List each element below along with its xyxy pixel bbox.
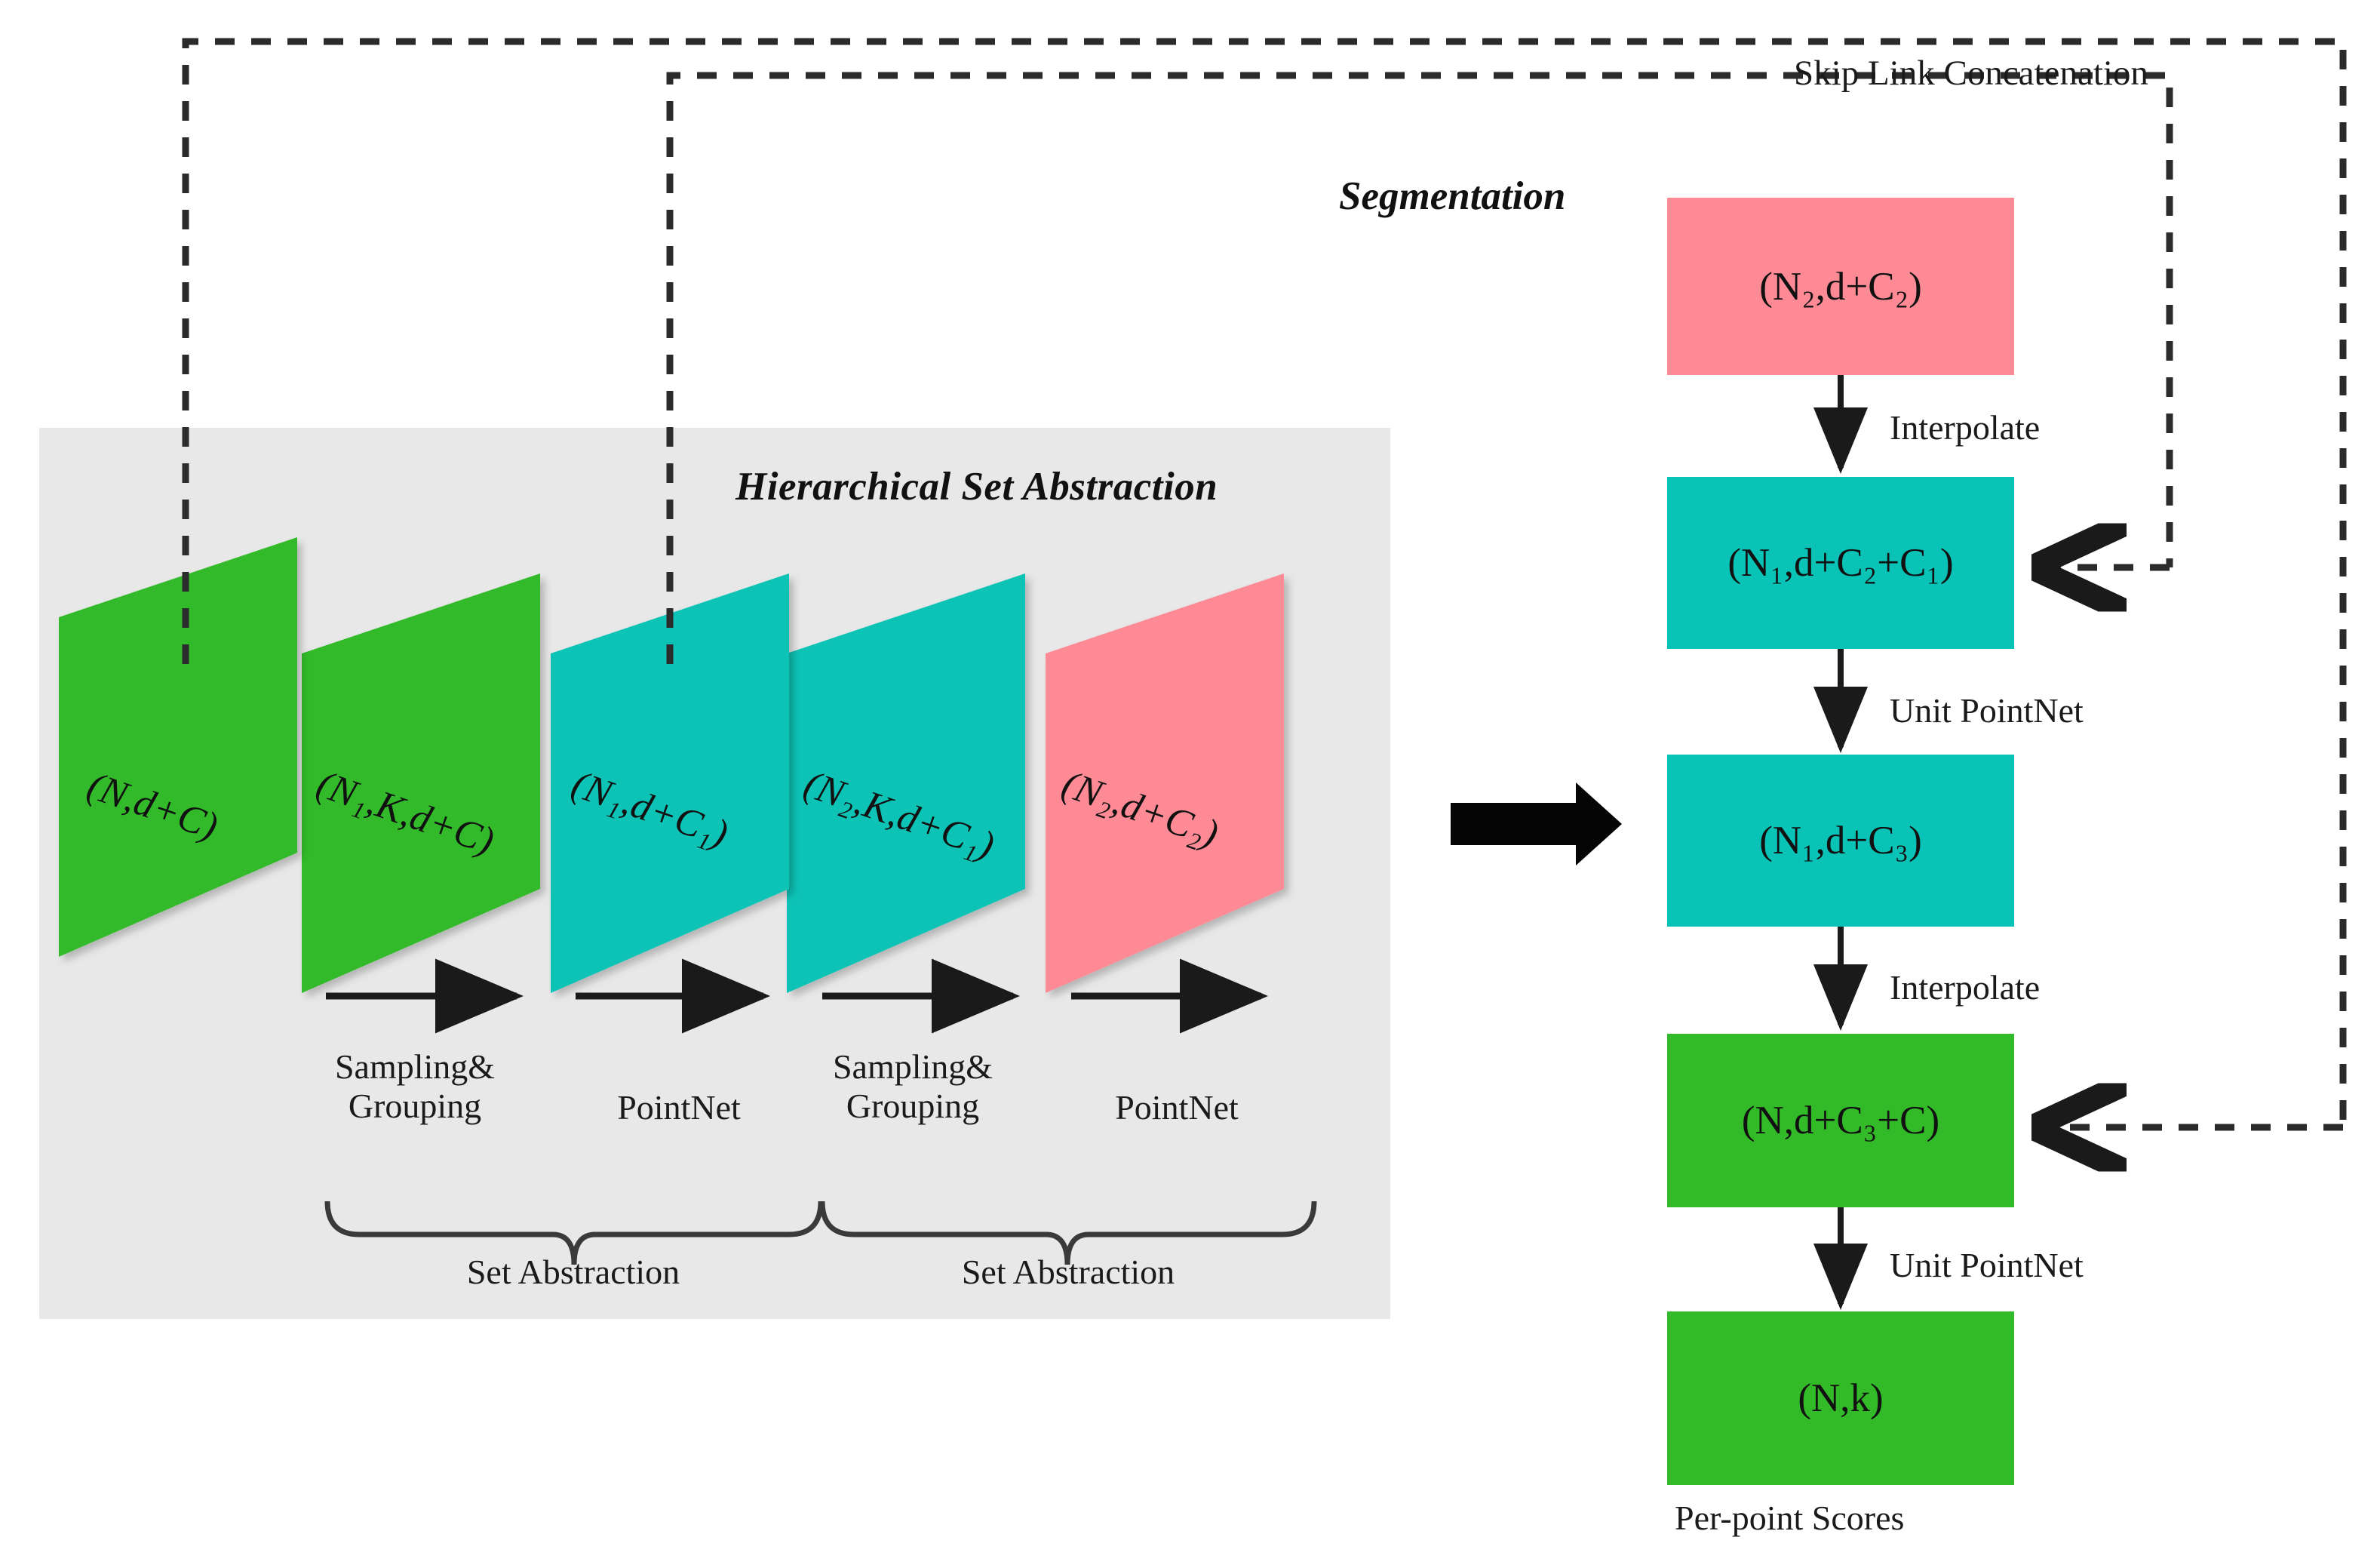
set-abstraction-1-label: Set Abstraction [392,1253,754,1292]
pointnet-1: PointNet [581,1088,777,1127]
skip-link-concatenation-label: Skip Link Concatenation [1794,53,2148,94]
seg-box-n-k-label: (N,k) [1798,1376,1883,1421]
set-abstraction-2-label: Set Abstraction [887,1253,1249,1292]
segmentation-title: Segmentation [1339,174,1565,219]
seg-box-n1-d-c2-c1: (N₁,d+C₂+C₁) [1667,477,2014,649]
seg-box-n1-d-c3-label: (N₁,d+C₃) [1759,818,1922,863]
transition-arrow [1451,782,1622,865]
sampling-grouping-2-line2: Grouping [785,1087,1041,1126]
sampling-grouping-1-line2: Grouping [287,1087,543,1126]
per-point-scores-label: Per-point Scores [1675,1498,1904,1538]
seg-box-n2-d-c2: (N₂,d+C₂) [1667,198,2014,375]
hierarchical-set-abstraction-panel [39,428,1390,1319]
sampling-grouping-2-line1: Sampling& [785,1047,1041,1087]
hierarchical-set-abstraction-title: Hierarchical Set Abstraction [735,464,1414,509]
seg-box-n-d-c3-c: (N,d+C₃+C) [1667,1034,2014,1207]
op-interpolate-1: Interpolate [1890,407,2040,447]
seg-box-n1-d-c2-c1-label: (N₁,d+C₂+C₁) [1727,540,1953,586]
sampling-grouping-1: Sampling& Grouping [287,1047,543,1125]
pointnet-1-line1: PointNet [581,1088,777,1127]
op-interpolate-2: Interpolate [1890,967,2040,1007]
pointnet-2-line1: PointNet [1079,1088,1275,1127]
sampling-grouping-2: Sampling& Grouping [785,1047,1041,1125]
sampling-grouping-1-line1: Sampling& [287,1047,543,1087]
op-unit-pointnet-1: Unit PointNet [1890,690,2084,730]
seg-box-n1-d-c3: (N₁,d+C₃) [1667,755,2014,927]
seg-box-n2-d-c2-label: (N₂,d+C₂) [1759,264,1922,309]
seg-box-n-k: (N,k) [1667,1311,2014,1485]
pointnet-2: PointNet [1079,1088,1275,1127]
diagram-canvas: (N,d+C) (N₁,K,d+C) (N₁,d+C₁) (N₂,K,d+C₁)… [0,0,2380,1568]
seg-box-n-d-c3-c-label: (N,d+C₃+C) [1742,1098,1939,1143]
op-unit-pointnet-2: Unit PointNet [1890,1245,2084,1285]
